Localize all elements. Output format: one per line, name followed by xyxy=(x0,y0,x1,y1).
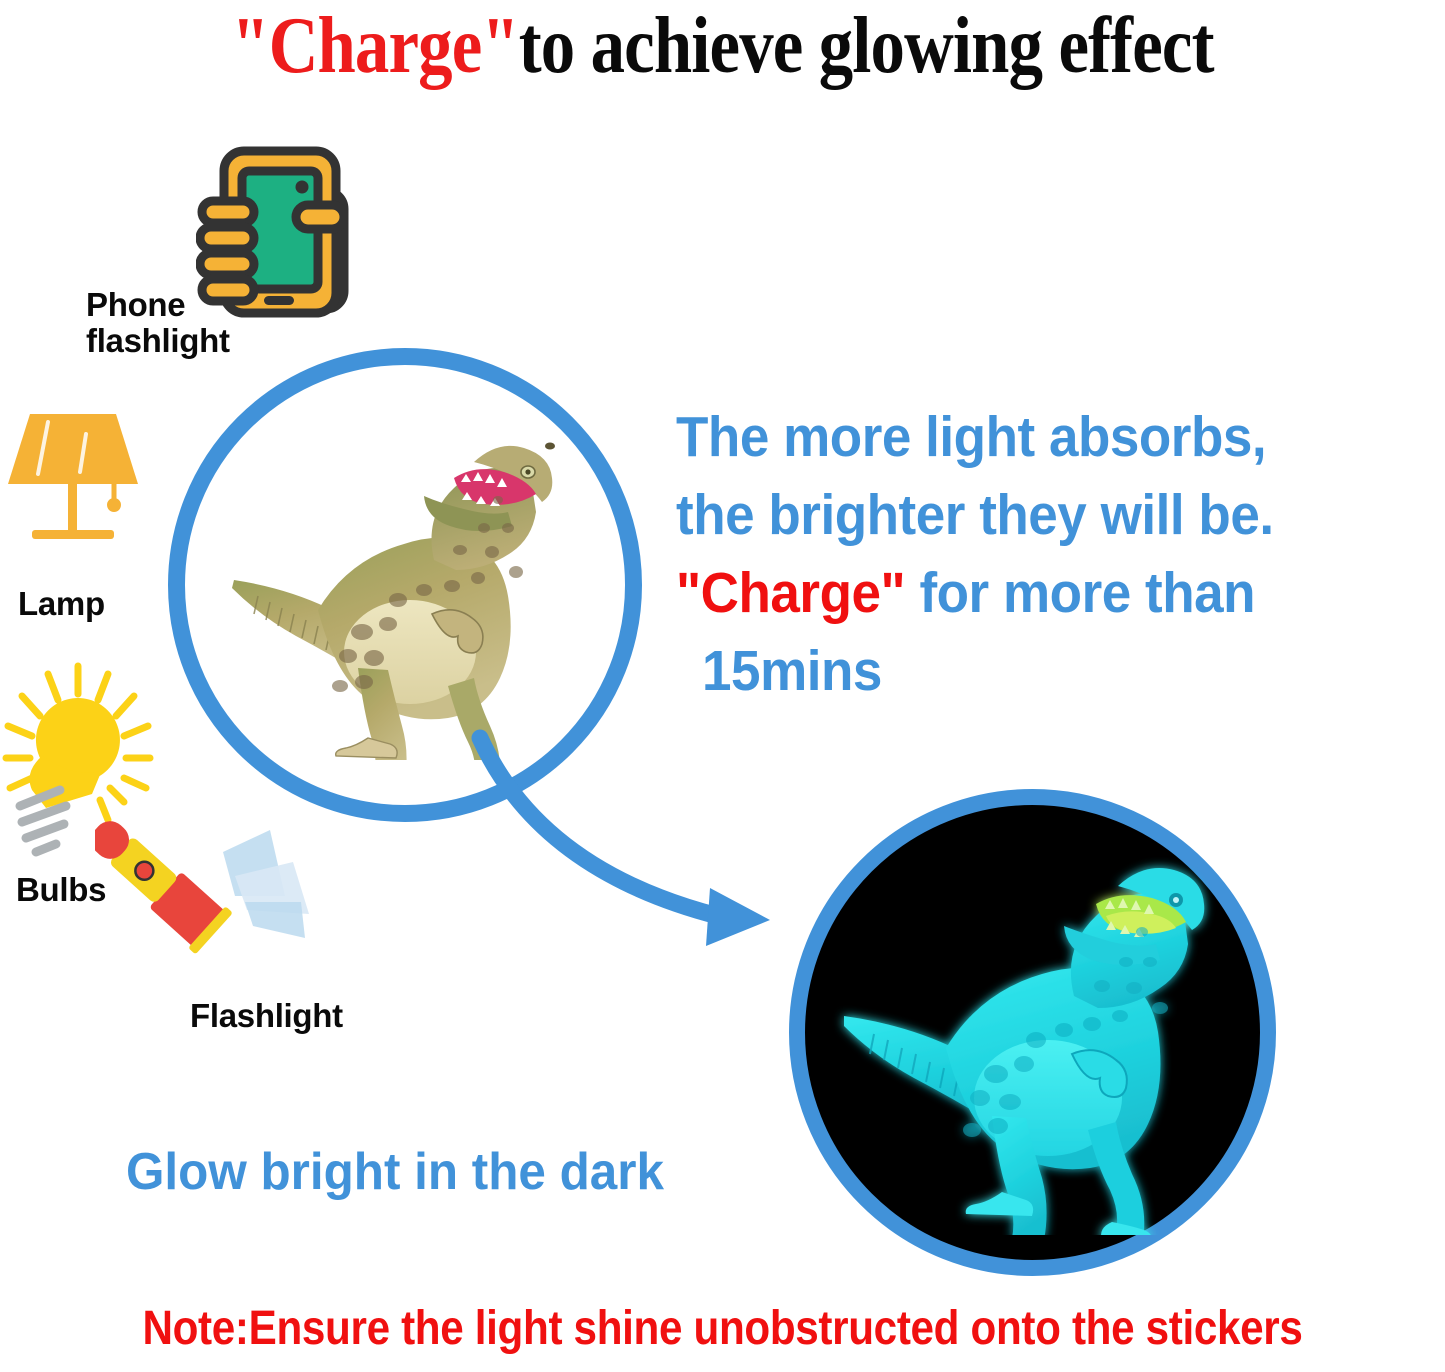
flashlight-glyph xyxy=(95,810,315,1025)
instruction-line-3: "Charge" for more than xyxy=(676,554,1392,632)
instruction-line-1: The more light absorbs, xyxy=(676,398,1392,476)
duration-value: 15mins xyxy=(676,632,882,710)
dinosaur-daylight-artwork xyxy=(198,400,578,760)
note-text: Note:Ensure the light shine unobstructed… xyxy=(87,1300,1359,1358)
instruction-line-4: 15mins xyxy=(676,632,1392,710)
bulbs-label: Bulbs xyxy=(16,872,106,908)
lamp-label: Lamp xyxy=(18,586,105,622)
page-title: "Charge"to achieve glowing effect xyxy=(101,2,1344,90)
instruction-paragraph: The more light absorbs, the brighter the… xyxy=(676,398,1392,710)
lamp-icon xyxy=(4,408,154,553)
charge-highlight: "Charge" xyxy=(676,561,905,625)
dinosaur-glow-artwork xyxy=(820,830,1250,1235)
lamp-glyph xyxy=(4,408,154,553)
title-rest: to achieve glowing effect xyxy=(519,2,1214,90)
flashlight-label: Flashlight xyxy=(190,998,343,1034)
infographic-canvas: "Charge"to achieve glowing effect Phonef… xyxy=(0,0,1445,1372)
title-charge-word: "Charge" xyxy=(231,2,518,90)
phone-flashlight-label: Phoneflashlight xyxy=(86,287,230,358)
flashlight-icon xyxy=(95,810,315,1025)
instruction-line-3-rest: for more than xyxy=(905,561,1255,625)
instruction-line-2: the brighter they will be. xyxy=(676,476,1392,554)
glow-caption: Glow bright in the dark xyxy=(126,1141,664,1203)
